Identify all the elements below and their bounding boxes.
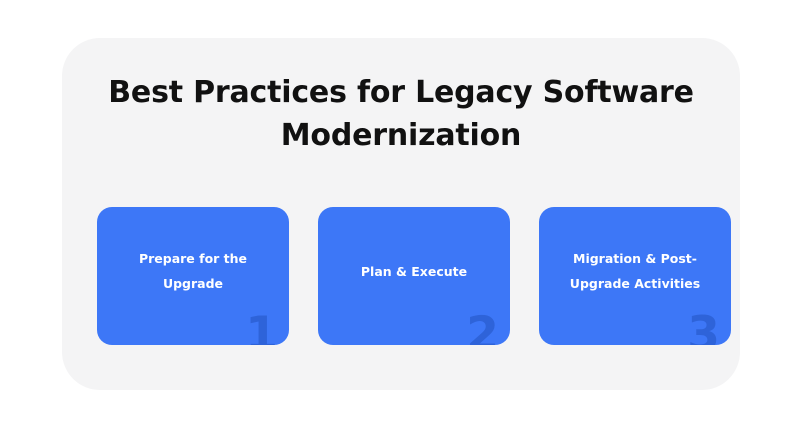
infographic-root: Best Practices for Legacy Software Moder… — [0, 0, 800, 422]
card-step-2-label: Plan & Execute — [345, 259, 483, 284]
card-step-2[interactable]: Plan & Execute 2 — [318, 207, 510, 345]
card-step-3[interactable]: Migration & Post-Upgrade Activities 3 — [539, 207, 731, 345]
content-panel: Best Practices for Legacy Software Moder… — [62, 38, 740, 390]
card-step-1-label: Prepare for the Upgrade — [97, 246, 289, 296]
card-step-3-label: Migration & Post-Upgrade Activities — [539, 246, 731, 296]
page-title: Best Practices for Legacy Software Moder… — [62, 71, 740, 157]
cards-row: Prepare for the Upgrade 1 Plan & Execute… — [97, 207, 705, 345]
card-step-2-number: 2 — [466, 311, 498, 345]
card-step-1-number: 1 — [245, 311, 277, 345]
card-step-1[interactable]: Prepare for the Upgrade 1 — [97, 207, 289, 345]
card-step-3-number: 3 — [687, 311, 719, 345]
